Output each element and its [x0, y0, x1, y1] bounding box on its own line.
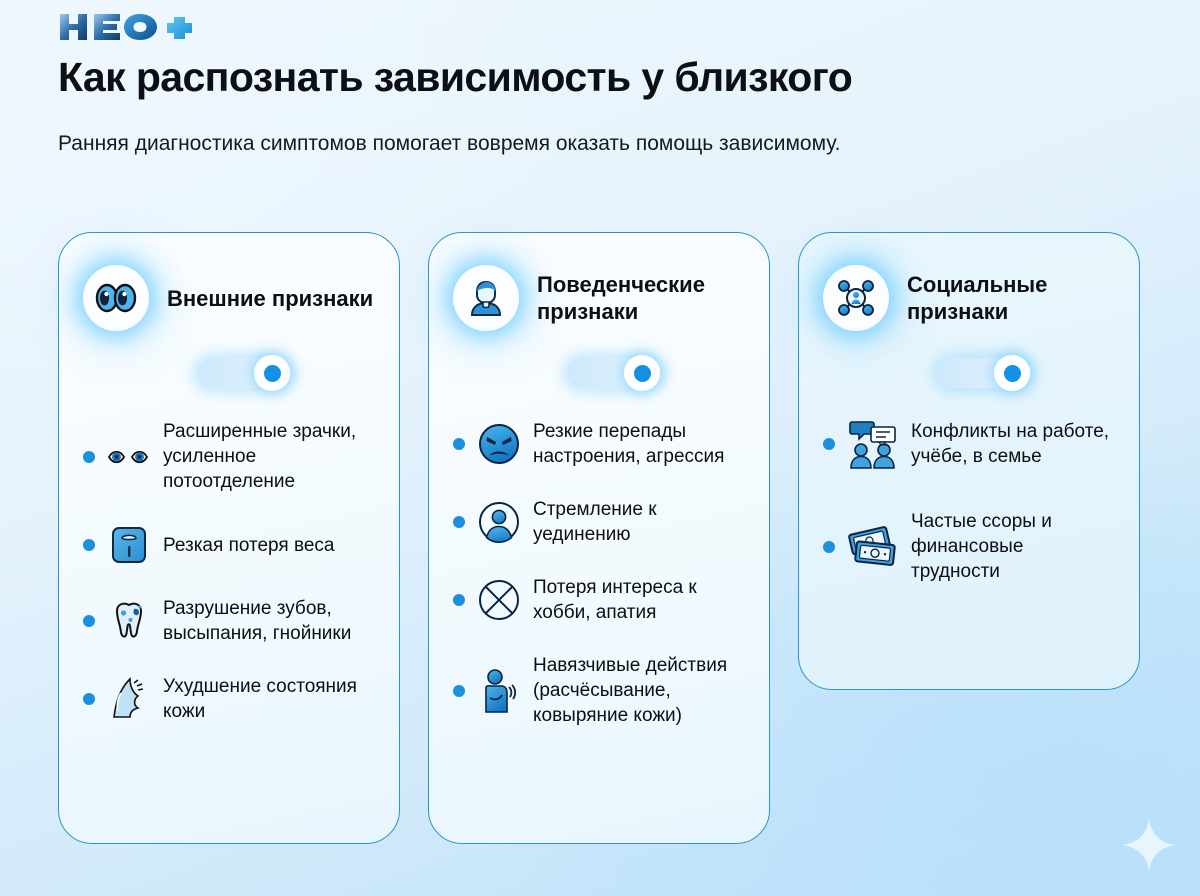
sparkle-icon: [1120, 816, 1178, 874]
list-item: Конфликты на работе, учёбе, в семье: [823, 419, 1115, 469]
person-avatar-icon: [453, 265, 519, 331]
item-text: Ухудшение состояния кожи: [163, 674, 375, 724]
item-text: Разрушение зубов, высыпания, гнойники: [163, 596, 375, 646]
card-toggle-switch[interactable]: [937, 358, 1031, 388]
bullet-dot: [823, 541, 835, 553]
list-item: Резкие перепады настроения, агрессия: [453, 419, 745, 469]
scratching-person-icon: [476, 668, 522, 714]
bullet-dot: [453, 516, 465, 528]
angry-face-icon: [476, 421, 522, 467]
card-behavioral-signs: Поведенческие признаки: [428, 232, 770, 844]
item-text: Навязчивые действия (расчёсывание, ковыр…: [533, 653, 745, 728]
bullet-dot: [83, 693, 95, 705]
card-social-signs: Социальные признаки: [798, 232, 1140, 690]
page-subtitle: Ранняя диагностика симптомов помогает во…: [58, 128, 978, 160]
item-text: Расширенные зрачки, усиленное потоотделе…: [163, 419, 375, 494]
card-external-signs: Внешние признаки Расширенные зрачки, ус: [58, 232, 400, 844]
bullet-dot: [453, 685, 465, 697]
toggle-row: [823, 337, 1115, 409]
dilated-pupils-icon: [106, 434, 152, 480]
toggle-knob[interactable]: [994, 355, 1030, 391]
toggle-knob[interactable]: [624, 355, 660, 391]
card-title: Социальные признаки: [907, 271, 1115, 325]
item-text: Частые ссоры и финансовые трудности: [911, 509, 1115, 584]
list-item: Навязчивые действия (расчёсывание, ковыр…: [453, 653, 745, 728]
banknotes-icon: [846, 524, 900, 570]
toggle-row: [83, 337, 375, 409]
list-item: Разрушение зубов, высыпания, гнойники: [83, 596, 375, 646]
signs-list: Расширенные зрачки, усиленное потоотделе…: [83, 419, 375, 724]
card-title: Поведенческие признаки: [537, 271, 745, 325]
conflict-people-icon: [846, 421, 900, 467]
list-item: Расширенные зрачки, усиленное потоотделе…: [83, 419, 375, 494]
crossed-circle-icon: [476, 577, 522, 623]
signs-list: Резкие перепады настроения, агрессия Стр…: [453, 419, 745, 728]
item-text: Стремление к уединению: [533, 497, 745, 547]
list-item: Потеря интереса к хобби, апатия: [453, 575, 745, 625]
card-toggle-switch[interactable]: [197, 358, 291, 388]
scale-icon: [106, 522, 152, 568]
network-people-icon: [823, 265, 889, 331]
item-text: Резкие перепады настроения, агрессия: [533, 419, 745, 469]
page-title: Как распознать зависимость у близкого: [58, 54, 852, 101]
bullet-dot: [83, 615, 95, 627]
signs-list: Конфликты на работе, учёбе, в семье: [823, 419, 1115, 584]
list-item: Ухудшение состояния кожи: [83, 674, 375, 724]
card-header: Внешние признаки: [83, 259, 375, 337]
bullet-dot: [453, 594, 465, 606]
toggle-knob[interactable]: [254, 355, 290, 391]
eyes-icon: [83, 265, 149, 331]
toggle-row: [453, 337, 745, 409]
brand-logo: [58, 12, 200, 42]
card-title: Внешние признаки: [167, 285, 373, 312]
card-header: Социальные признаки: [823, 259, 1115, 337]
bullet-dot: [83, 451, 95, 463]
list-item: Частые ссоры и финансовые трудности: [823, 509, 1115, 584]
item-text: Потеря интереса к хобби, апатия: [533, 575, 745, 625]
list-item: Резкая потеря веса: [83, 522, 375, 568]
card-toggle-switch[interactable]: [567, 358, 661, 388]
bullet-dot: [453, 438, 465, 450]
bullet-dot: [823, 438, 835, 450]
item-text: Конфликты на работе, учёбе, в семье: [911, 419, 1115, 469]
tooth-icon: [106, 598, 152, 644]
card-header: Поведенческие признаки: [453, 259, 745, 337]
bullet-dot: [83, 539, 95, 551]
face-skin-icon: [106, 676, 152, 722]
cards-container: Внешние признаки Расширенные зрачки, ус: [58, 232, 1148, 844]
item-text: Резкая потеря веса: [163, 533, 335, 558]
user-circle-icon: [476, 499, 522, 545]
list-item: Стремление к уединению: [453, 497, 745, 547]
